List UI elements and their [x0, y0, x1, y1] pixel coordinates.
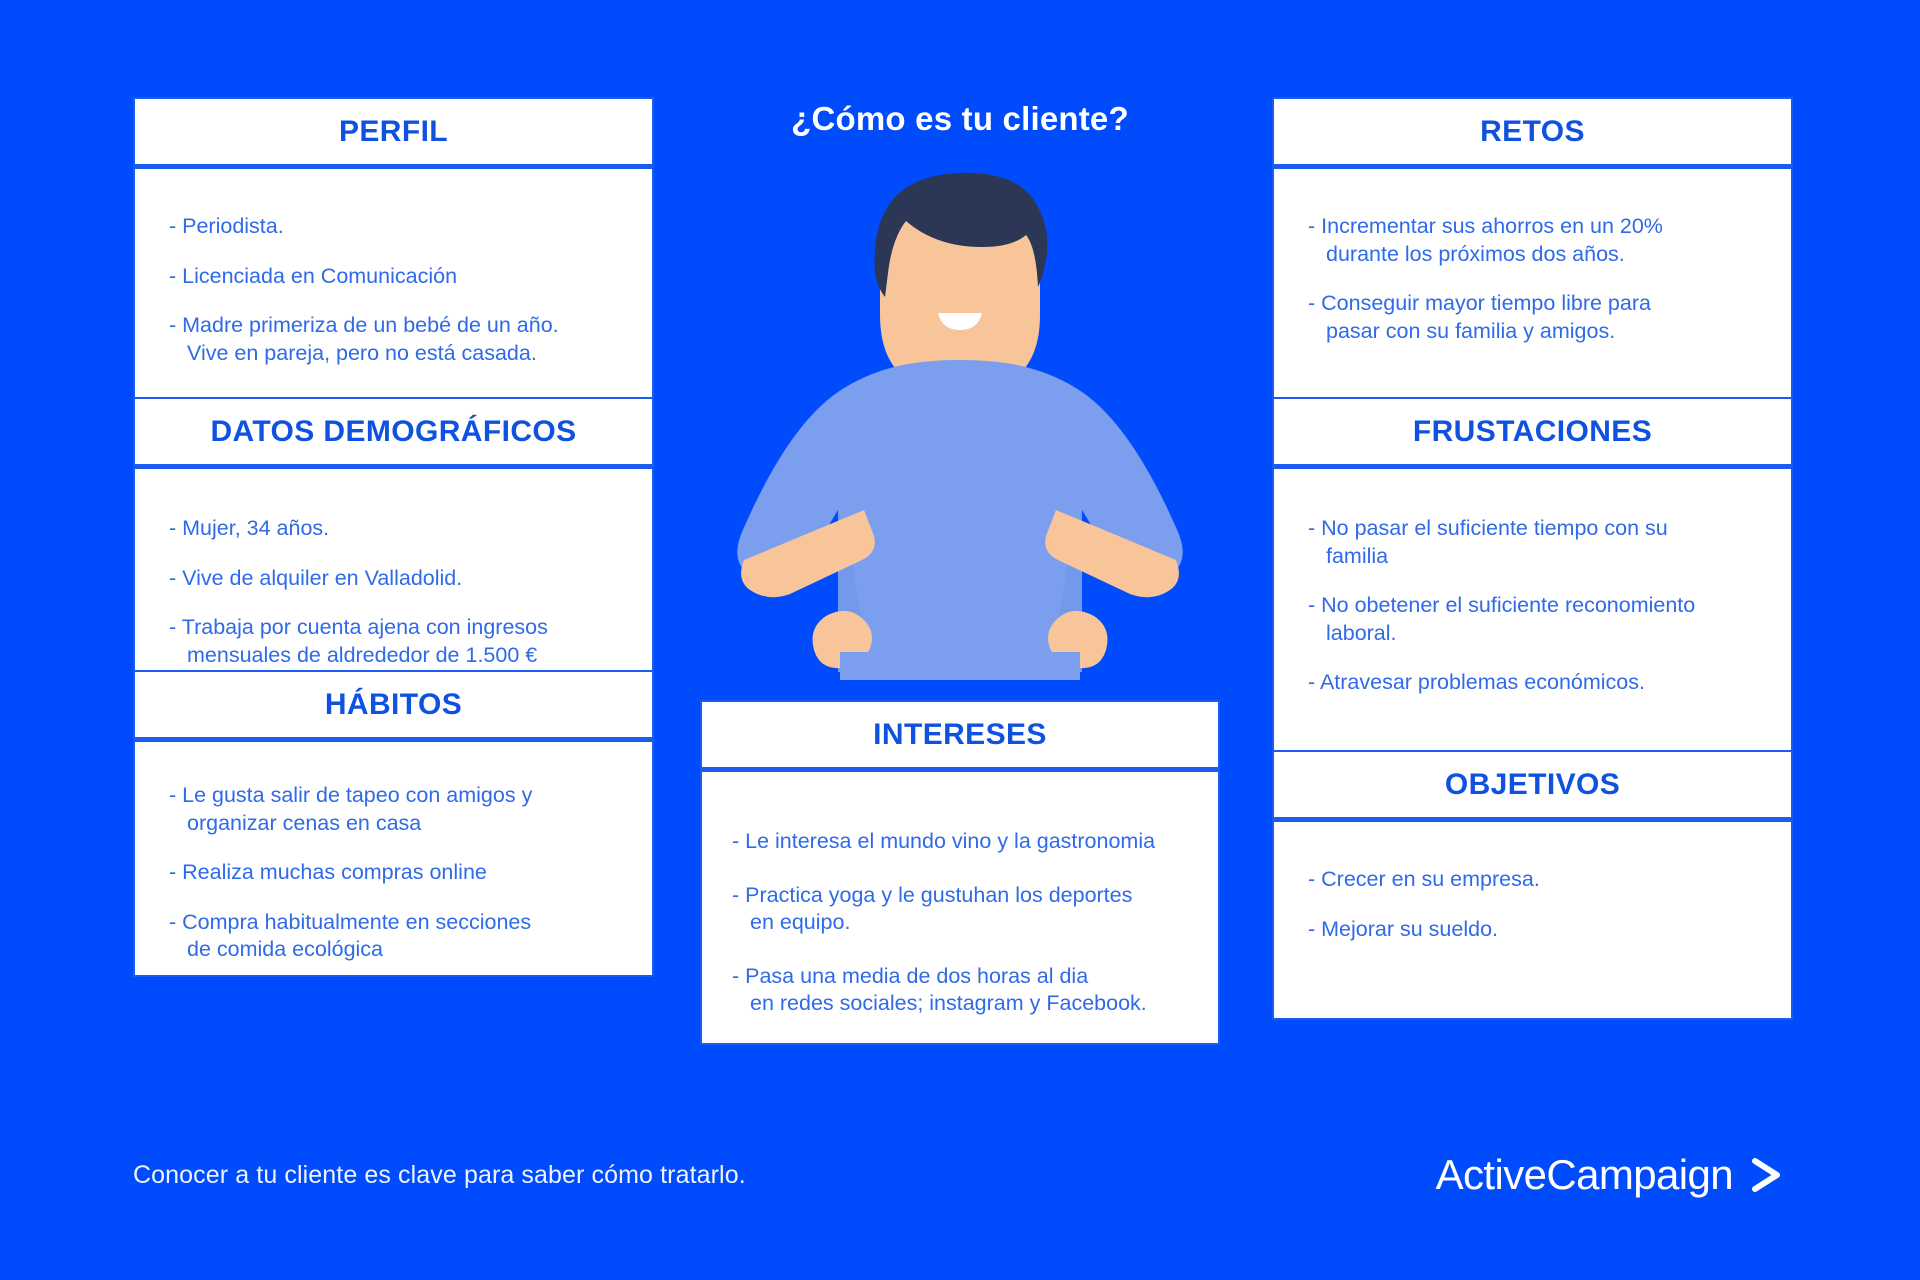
card-header-objetivos: OBJETIVOS [1274, 752, 1791, 822]
list-item: - No obetener el suficiente reconomiento… [1308, 592, 1757, 647]
card-intereses: INTERESES - Le interesa el mundo vino y … [700, 700, 1220, 1045]
list-item: - Licenciada en Comunicación [169, 263, 618, 291]
list-item: - Conseguir mayor tiempo libre para pasa… [1308, 290, 1757, 345]
footer-tagline: Conocer a tu cliente es clave para saber… [133, 1161, 746, 1190]
footer: Conocer a tu cliente es clave para saber… [0, 1140, 1920, 1210]
card-title-habitos: HÁBITOS [325, 690, 462, 720]
infographic-poster: PERFIL - Periodista. - Licenciada en Com… [0, 0, 1920, 1280]
card-header-frustaciones: FRUSTACIONES [1274, 399, 1791, 469]
card-habitos: HÁBITOS - Le gusta salir de tapeo con am… [133, 670, 654, 977]
left-column: PERFIL - Periodista. - Licenciada en Com… [133, 97, 654, 977]
card-body-retos: - Incrementar sus ahorros en un 20% dura… [1274, 169, 1791, 397]
list-item: - Periodista. [169, 213, 618, 241]
list-item: - Madre primeriza de un bebé de un año. … [169, 312, 618, 367]
activecampaign-logo: ActiveCampaign [1436, 1151, 1787, 1199]
page-title: ¿Cómo es tu cliente? [700, 100, 1220, 138]
card-objetivos: OBJETIVOS - Crecer en su empresa. - Mejo… [1272, 750, 1793, 1020]
perfil-list: - Periodista. - Licenciada en Comunicaci… [169, 213, 618, 367]
frustaciones-list: - No pasar el suficiente tiempo con su f… [1308, 515, 1757, 697]
card-body-frustaciones: - No pasar el suficiente tiempo con su f… [1274, 469, 1791, 750]
list-item: - Crecer en su empresa. [1308, 866, 1757, 894]
list-item: - Mejorar su sueldo. [1308, 916, 1757, 944]
card-title-datos-demograficos: DATOS DEMOGRÁFICOS [210, 417, 576, 447]
card-title-perfil: PERFIL [339, 117, 448, 147]
list-item: - Compra habitualmente en secciones de c… [169, 909, 618, 964]
card-title-frustaciones: FRUSTACIONES [1413, 417, 1652, 447]
card-title-objetivos: OBJETIVOS [1445, 770, 1620, 800]
list-item: - Atravesar problemas económicos. [1308, 669, 1757, 697]
list-item: - Mujer, 34 años. [169, 515, 618, 543]
card-body-habitos: - Le gusta salir de tapeo con amigos y o… [135, 742, 652, 975]
card-header-datos-demograficos: DATOS DEMOGRÁFICOS [135, 399, 652, 469]
card-body-datos-demograficos: - Mujer, 34 años. - Vive de alquiler en … [135, 469, 652, 670]
chevron-right-icon [1747, 1153, 1787, 1197]
card-body-objetivos: - Crecer en su empresa. - Mejorar su sue… [1274, 822, 1791, 1018]
card-header-intereses: INTERESES [702, 702, 1218, 772]
logo-wordmark: ActiveCampaign [1436, 1151, 1733, 1199]
card-body-perfil: - Periodista. - Licenciada en Comunicaci… [135, 169, 652, 397]
right-column: RETOS - Incrementar sus ahorros en un 20… [1272, 97, 1793, 1020]
card-perfil: PERFIL - Periodista. - Licenciada en Com… [133, 97, 654, 397]
card-frustaciones: FRUSTACIONES - No pasar el suficiente ti… [1272, 397, 1793, 750]
list-item: - No pasar el suficiente tiempo con su f… [1308, 515, 1757, 570]
list-item: - Realiza muchas compras online [169, 859, 618, 887]
intereses-list: - Le interesa el mundo vino y la gastron… [732, 828, 1188, 1018]
list-item: - Le gusta salir de tapeo con amigos y o… [169, 782, 618, 837]
objetivos-list: - Crecer en su empresa. - Mejorar su sue… [1308, 866, 1757, 943]
card-datos-demograficos: DATOS DEMOGRÁFICOS - Mujer, 34 años. - V… [133, 397, 654, 670]
card-header-habitos: HÁBITOS [135, 672, 652, 742]
card-title-retos: RETOS [1480, 117, 1585, 147]
card-body-intereses: - Le interesa el mundo vino y la gastron… [702, 772, 1218, 1043]
list-item: - Pasa una media de dos horas al dia en … [732, 963, 1188, 1018]
card-retos: RETOS - Incrementar sus ahorros en un 20… [1272, 97, 1793, 397]
list-item: - Le interesa el mundo vino y la gastron… [732, 828, 1188, 856]
list-item: - Incrementar sus ahorros en un 20% dura… [1308, 213, 1757, 268]
avatar [700, 160, 1220, 680]
card-header-perfil: PERFIL [135, 99, 652, 169]
habitos-list: - Le gusta salir de tapeo con amigos y o… [169, 782, 618, 964]
card-title-intereses: INTERESES [873, 720, 1047, 750]
retos-list: - Incrementar sus ahorros en un 20% dura… [1308, 213, 1757, 345]
person-illustration-icon [700, 160, 1220, 680]
list-item: - Vive de alquiler en Valladolid. [169, 565, 618, 593]
datos-demograficos-list: - Mujer, 34 años. - Vive de alquiler en … [169, 515, 618, 669]
list-item: - Trabaja por cuenta ajena con ingresos … [169, 614, 618, 669]
card-header-retos: RETOS [1274, 99, 1791, 169]
list-item: - Practica yoga y le gustuhan los deport… [732, 882, 1188, 937]
center-column: ¿Cómo es tu cliente? [700, 100, 1220, 680]
